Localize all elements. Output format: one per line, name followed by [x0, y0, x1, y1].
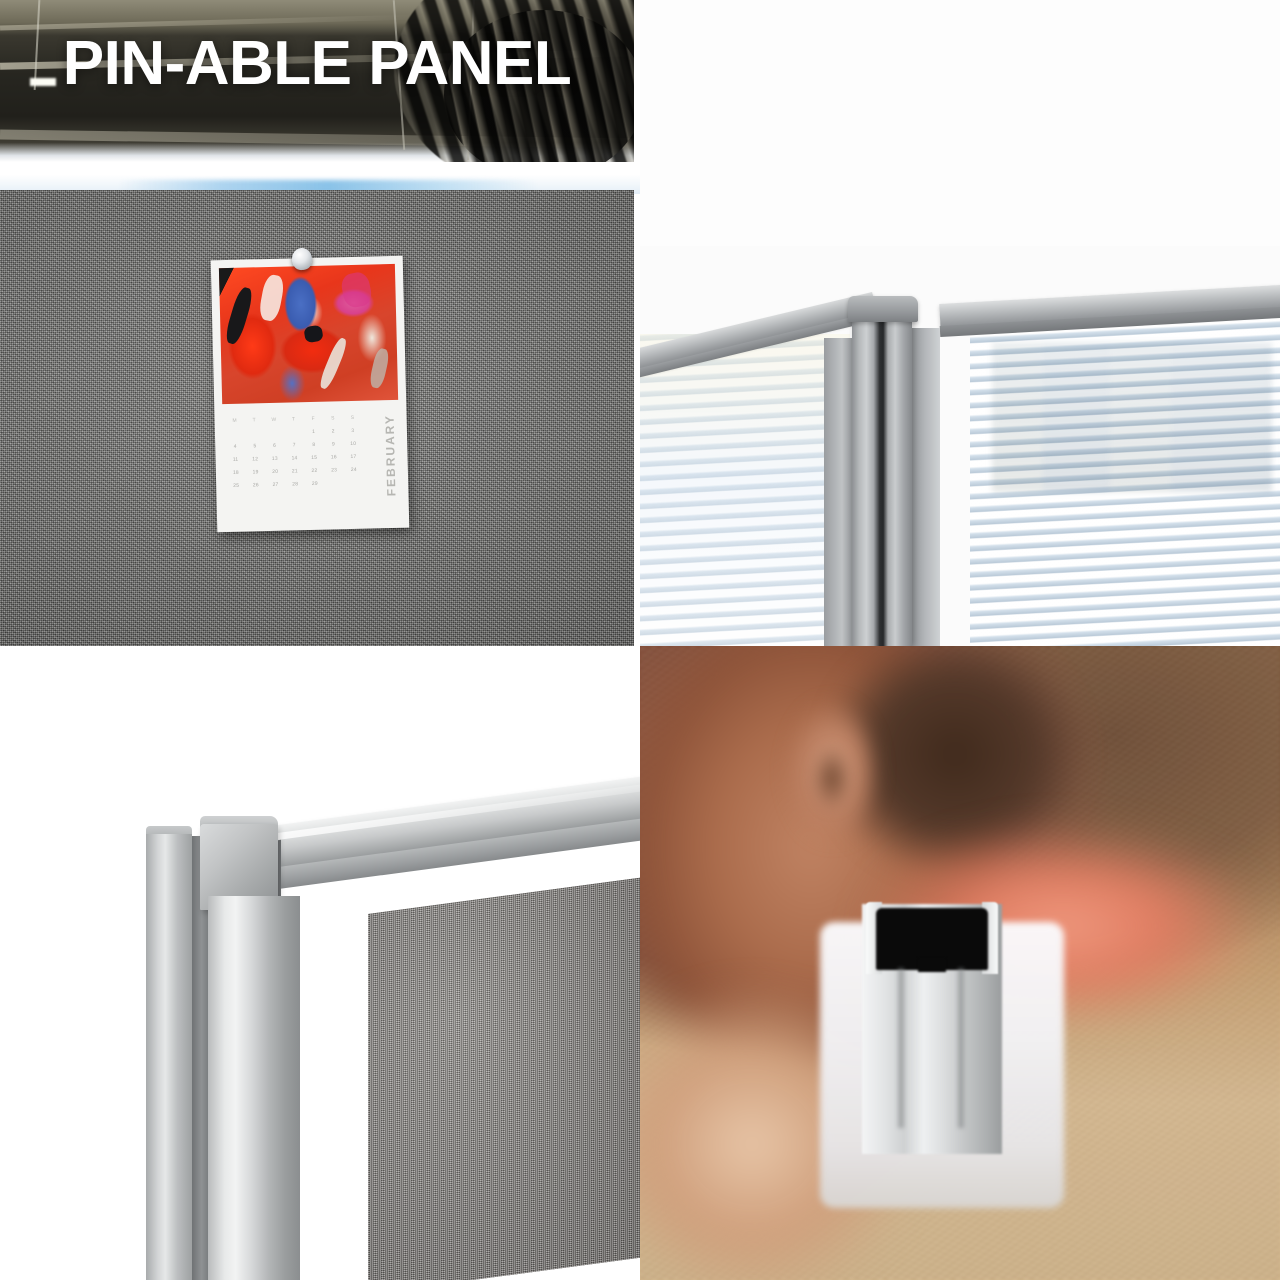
calendar-day: 6 [266, 443, 282, 449]
pinned-calendar: M T W T F S S 1 2 [211, 256, 410, 533]
calendar-day: 2 [325, 428, 341, 434]
extrusion-rib [958, 968, 964, 1128]
calendar-artwork [219, 264, 398, 404]
calendar-weekday: S [344, 415, 360, 421]
calendar-day: 7 [286, 442, 302, 448]
calendar-weekday: W [266, 417, 282, 423]
calendar-day: 25 [228, 483, 244, 489]
corner-post-side-right [910, 328, 940, 646]
calendar-weekday: T [286, 416, 302, 422]
aluminum-frame-photo [0, 646, 640, 1280]
calendar-weekday: T [246, 417, 262, 423]
calendar-day: 23 [326, 467, 342, 473]
paint-stroke [223, 286, 255, 346]
translucent-panel-left [640, 334, 850, 646]
quadrant-aluminum-frame: LIGHT AIRCRAFT ALUMINUM FRAME [0, 646, 640, 1280]
corner-post [852, 316, 912, 646]
calendar-weekday: F [305, 416, 321, 422]
calendar-day: 14 [286, 455, 302, 461]
calendar-grid: M T W T F S S 1 2 [223, 414, 401, 496]
paint-stroke [258, 274, 286, 323]
window-skyline [992, 342, 1272, 492]
calendar-day: 21 [287, 468, 303, 474]
blurred-ear-inner [802, 732, 862, 824]
calendar-day: 1 [305, 429, 321, 435]
headline-line: PIN-ABLE PANEL [0, 32, 634, 95]
quadrant-customizable-configuration: CUSTOMIZABLE CONFIGURATION [640, 0, 1280, 646]
paint-stroke [304, 324, 324, 343]
paint-stroke [317, 336, 349, 390]
calendar-day: 18 [228, 470, 244, 476]
calendar-weekday: M [227, 418, 243, 424]
toolless-assembly-photo [640, 646, 1280, 1280]
quadrant-pinable-panel: M T W T F S S 1 2 [0, 0, 640, 646]
calendar-day: 19 [247, 469, 263, 475]
calendar-day: 16 [326, 454, 342, 460]
calendar-day: 28 [287, 481, 303, 487]
calendar-day: 4 [227, 444, 243, 450]
calendar-day [266, 430, 282, 436]
calendar-day: 11 [228, 457, 244, 463]
paint-stroke [369, 348, 391, 390]
calendar-week-row: 18 19 20 21 22 23 24 [224, 467, 366, 476]
calendar-day: 5 [247, 443, 263, 449]
calendar-day [247, 430, 263, 436]
calendar-day: 26 [248, 482, 264, 488]
fabric-infill [368, 874, 640, 1280]
corner-post-cap [848, 296, 918, 322]
calendar-month-label: FEBRUARY [383, 414, 399, 497]
calendar-day [286, 429, 302, 435]
rail-seam [278, 840, 281, 900]
rear-post [146, 834, 192, 1280]
headline-pinable-panel: PIN-ABLE PANEL [0, 32, 634, 95]
front-post [208, 896, 300, 1280]
calendar-month-column: FEBRUARY [365, 414, 401, 493]
feature-collage: M T W T F S S 1 2 [0, 0, 1280, 1280]
calendar-weekday-row: M T W T F S S [223, 415, 365, 424]
quadrant-toolless-assembly: TOOLLESS ASSEMBLY [640, 646, 1280, 1280]
calendar-day: 27 [267, 482, 283, 488]
calendar-day: 10 [345, 441, 361, 447]
extrusion-rib [898, 968, 904, 1128]
calendar-day: 15 [306, 455, 322, 461]
calendar-weekday: S [325, 415, 341, 421]
calendar-day: 13 [267, 456, 283, 462]
calendar-day: 17 [345, 454, 361, 460]
calendar-day [227, 431, 243, 437]
calendar-day-columns: M T W T F S S 1 2 [223, 415, 367, 496]
calendar-day: 9 [325, 441, 341, 447]
calendar-day [326, 480, 342, 486]
corner-post-side-left [824, 338, 854, 646]
calendar-day: 8 [306, 442, 322, 448]
calendar-day: 24 [346, 467, 362, 473]
calendar-week-row: 11 12 13 14 15 16 17 [224, 454, 366, 463]
calendar-week-row: 1 2 3 [223, 428, 365, 437]
panel-configuration-photo [640, 246, 1280, 646]
calendar-day: 12 [247, 456, 263, 462]
paint-stroke [340, 271, 374, 310]
calendar-day [346, 480, 362, 486]
calendar-day: 22 [306, 468, 322, 474]
extrusion-notch [918, 958, 946, 972]
calendar-day: 20 [267, 469, 283, 475]
calendar-day: 3 [345, 428, 361, 434]
calendar-day: 29 [307, 481, 323, 487]
calendar-week-row: 4 5 6 7 8 9 10 [223, 441, 365, 450]
calendar-week-row: 25 26 27 28 29 [224, 480, 366, 489]
